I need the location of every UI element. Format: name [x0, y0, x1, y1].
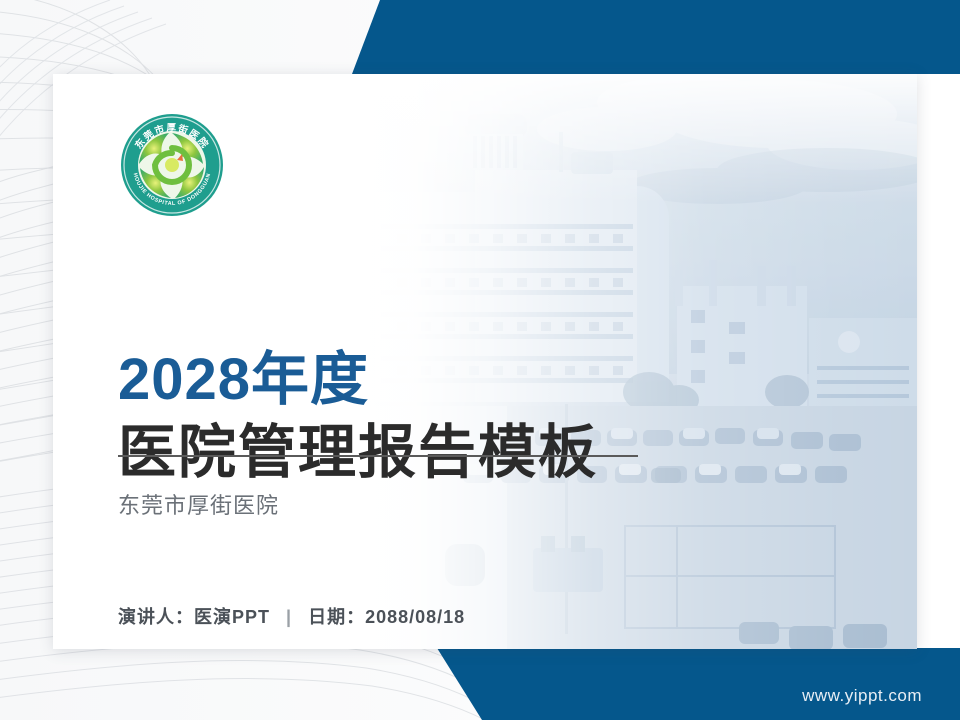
slide-title-main: 医院管理报告模板 [118, 424, 598, 482]
meta-separator: | [276, 607, 302, 628]
presenter-label: 演讲人：医演PPT [118, 607, 270, 627]
hospital-campus-photo [357, 74, 917, 649]
slide-footer-meta: 演讲人：医演PPT | 日期：2088/08/18 [118, 603, 465, 629]
slide-title-year: 2028年度 [118, 351, 369, 409]
presentation-slide: 东莞市厚街医院 HOUJIE HOSPITAL OF DONGGUAN 2028… [0, 0, 960, 720]
photo-top-fade-overlay [357, 74, 917, 204]
slide-subtitle-organization: 东莞市厚街医院 [118, 488, 279, 520]
site-watermark: www.yippt.com [802, 686, 922, 706]
bottom-blue-wedge [437, 648, 960, 720]
date-label: 日期：2088/08/18 [308, 607, 465, 627]
top-blue-wedge [352, 0, 960, 74]
dongguan-houjie-hospital-logo: 东莞市厚街医院 HOUJIE HOSPITAL OF DONGGUAN [119, 112, 225, 218]
title-divider-rule [118, 455, 638, 457]
slide-content-card: 东莞市厚街医院 HOUJIE HOSPITAL OF DONGGUAN 2028… [53, 74, 917, 649]
